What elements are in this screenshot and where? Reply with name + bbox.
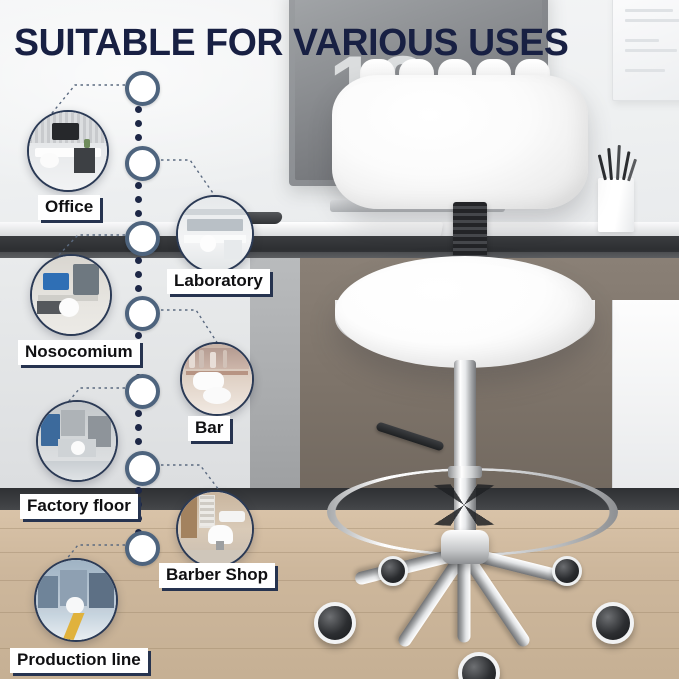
thumbnail-office[interactable] (27, 110, 109, 192)
thumbnail-bar[interactable] (180, 342, 254, 416)
infographic-canvas: 18 (0, 0, 679, 679)
product-chair (300, 60, 679, 679)
thumbnail-barber-shop[interactable] (176, 490, 254, 568)
page-title: SUITABLE FOR VARIOUS USES (14, 22, 568, 65)
height-adjust-lever (375, 421, 444, 451)
label-production-line: Production line (10, 648, 148, 673)
caster-wheel (552, 556, 582, 586)
label-office: Office (38, 195, 100, 220)
timeline-marker-nosocomium[interactable] (125, 221, 160, 256)
timeline-marker-factory-floor[interactable] (125, 374, 160, 409)
label-laboratory: Laboratory (167, 269, 270, 294)
label-factory-floor: Factory floor (20, 494, 138, 519)
label-nosocomium: Nosocomium (18, 340, 140, 365)
thumbnail-factory-floor[interactable] (36, 400, 118, 482)
thumbnail-laboratory[interactable] (176, 195, 254, 273)
label-bar: Bar (188, 416, 230, 441)
caster-wheel (314, 602, 356, 644)
caster-wheel (378, 556, 408, 586)
timeline-marker-barber-shop[interactable] (125, 451, 160, 486)
caster-wheel (592, 602, 634, 644)
chair-accordion-post (453, 202, 487, 264)
timeline-marker-office[interactable] (125, 71, 160, 106)
chair-backrest (332, 75, 588, 209)
caster-wheel (458, 652, 500, 679)
thumbnail-nosocomium[interactable] (30, 254, 112, 336)
cylinder-collar (448, 466, 482, 478)
base-hub (441, 530, 489, 564)
thumbnail-production-line[interactable] (34, 558, 118, 642)
chair-seat (335, 256, 595, 368)
label-barber-shop: Barber Shop (159, 563, 275, 588)
timeline-marker-laboratory[interactable] (125, 146, 160, 181)
timeline-marker-bar[interactable] (125, 296, 160, 331)
timeline-marker-production-line[interactable] (125, 531, 160, 566)
